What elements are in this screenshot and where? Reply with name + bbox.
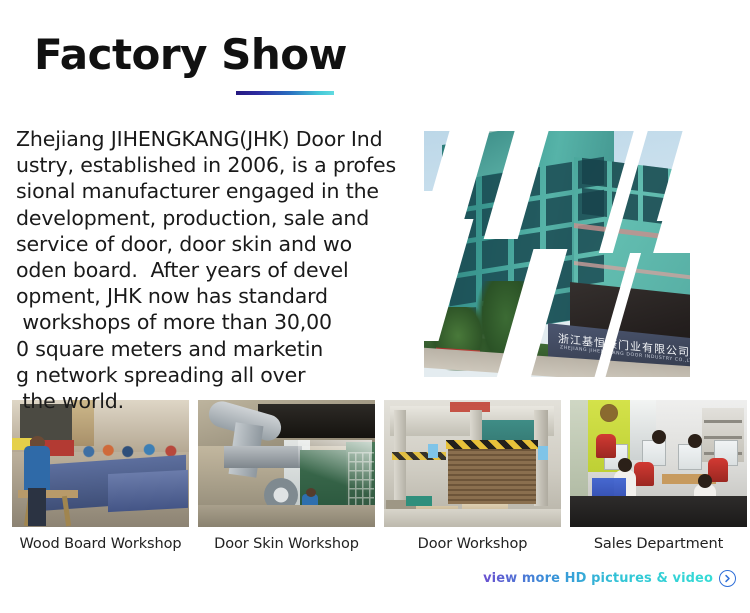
door-workshop-photo[interactable]: [384, 400, 561, 527]
workshop-thumbnail-row: Wood Board Workshop Door Skin Workshop: [12, 400, 738, 552]
page-title: Factory Show: [34, 32, 347, 78]
thumbnail-caption: Wood Board Workshop: [12, 536, 189, 552]
thumbnail-item[interactable]: Door Workshop: [384, 400, 561, 552]
factory-show-page: Factory Show 浙江基恒康门业有限公司 ZHEJIANG JIHENG…: [0, 0, 750, 613]
company-intro-paragraph: Zhejiang JIHENGKANG(JHK) Door Ind ustry,…: [16, 126, 436, 414]
wood-board-workshop-photo[interactable]: [12, 400, 189, 527]
thumbnail-caption: Door Skin Workshop: [198, 536, 375, 552]
chevron-right-circle-icon[interactable]: [719, 570, 736, 587]
view-more-link[interactable]: view more HD pictures & video: [483, 570, 736, 587]
thumbnail-item[interactable]: Wood Board Workshop: [12, 400, 189, 552]
sales-department-photo[interactable]: [570, 400, 747, 527]
thumbnail-item[interactable]: Door Skin Workshop: [198, 400, 375, 552]
title-underline-rule: [236, 91, 334, 95]
thumbnail-caption: Sales Department: [570, 536, 747, 552]
factory-building-photo: 浙江基恒康门业有限公司 ZHEJIANG JIHENGKANG DOOR IND…: [424, 131, 690, 377]
door-skin-workshop-photo[interactable]: [198, 400, 375, 527]
view-more-label: view more HD pictures & video: [483, 571, 713, 586]
thumbnail-caption: Door Workshop: [384, 536, 561, 552]
thumbnail-item[interactable]: Sales Department: [570, 400, 747, 552]
